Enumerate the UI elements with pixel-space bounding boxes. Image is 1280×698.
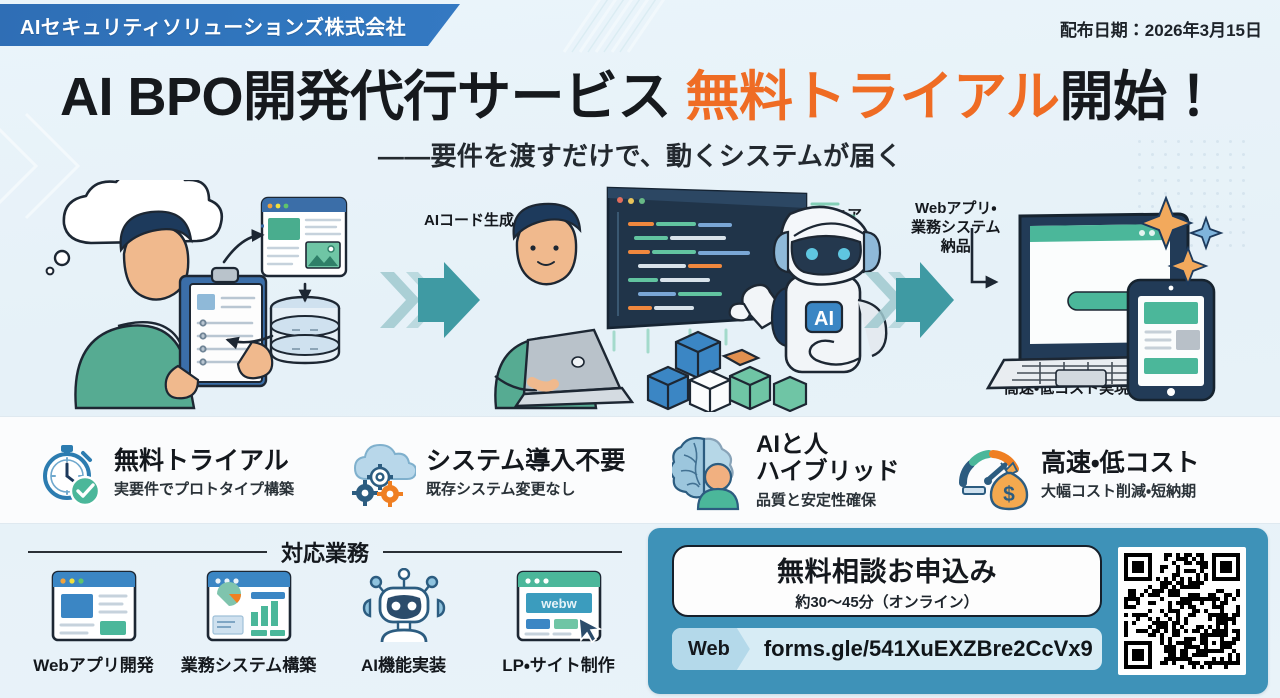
divider-left bbox=[28, 551, 267, 553]
hatch-decoration-icon bbox=[560, 0, 720, 56]
brain-person-icon bbox=[672, 431, 746, 511]
benefit-item-fast-cheap: $ 高速・低コスト 大幅コスト削減・短納期 bbox=[955, 439, 1200, 511]
big-arrow-1-icon bbox=[380, 262, 480, 338]
services-section: 対応業務 bbox=[0, 524, 640, 698]
cta-button-label: 無料相談お申込み bbox=[777, 550, 997, 589]
flyer-root: AIセキュリティソリューションズ株式会社 配布日期：2026年3月15日 AI … bbox=[0, 0, 1280, 698]
service-item-webapp[interactable]: Webアプリ開発 bbox=[16, 568, 171, 676]
tablet-icon bbox=[1128, 280, 1214, 400]
robot-head-icon bbox=[358, 568, 450, 644]
gauge-moneybag-icon: $ bbox=[955, 439, 1031, 511]
headline-block: AI BPO開発代行サービス 無料トライアル開始！ ——要件を渡すだけで、動くシ… bbox=[0, 68, 1280, 173]
headline-accent: 無料トライアル bbox=[686, 67, 1060, 127]
bottom-section: 対応業務 bbox=[0, 524, 1280, 698]
benefit-subtitle: 品質と安定性確保 bbox=[756, 489, 900, 510]
divider-right bbox=[383, 551, 622, 553]
benefit-text-free-trial: 無料トライアル 実要件でプロトタイプ構築 bbox=[114, 447, 294, 499]
stopwatch-check-icon bbox=[36, 439, 104, 507]
service-label: Webアプリ開発 bbox=[33, 651, 154, 676]
issue-date: 配布日期：2026年3月15日 bbox=[1060, 16, 1262, 41]
cloud-gears-icon bbox=[348, 439, 416, 507]
cta-button-sublabel: 約30〜45分（オンライン） bbox=[795, 591, 978, 612]
benefit-title: 無料トライアル bbox=[114, 447, 294, 475]
service-item-ai-feature[interactable]: AI機能実装 bbox=[326, 568, 481, 676]
browser-mock-icon bbox=[261, 198, 346, 276]
benefit-text-hybrid: AIと人 ハイブリッド 品質と安定性確保 bbox=[756, 432, 900, 510]
benefit-title: システム導入不要 bbox=[426, 447, 625, 475]
cta-url-bar[interactable]: Web forms.gle/541XuEXZBre2CcVx9 bbox=[672, 628, 1102, 670]
service-item-business-system[interactable]: 業務システム構築 bbox=[171, 568, 326, 676]
database-icon bbox=[271, 297, 339, 363]
benefit-subtitle: 実要件でプロトタイプ構築 bbox=[114, 478, 294, 499]
svg-text:$: $ bbox=[1003, 483, 1015, 506]
benefit-subtitle: 既存システム変更なし bbox=[426, 478, 625, 499]
benefit-item-no-install: システム導入不要 既存システム変更なし bbox=[348, 439, 625, 507]
benefit-text-no-install: システム導入不要 既存システム変更なし bbox=[426, 447, 625, 499]
benefits-strip: 無料トライアル 実要件でプロトタイプ構築 bbox=[0, 416, 1280, 524]
big-arrow-2-icon bbox=[864, 262, 954, 338]
dashboard-chart-icon bbox=[203, 568, 295, 644]
company-name: AIセキュリティソリューションズ株式会社 bbox=[20, 11, 406, 40]
services-heading-row: 対応業務 bbox=[28, 536, 622, 568]
benefit-item-hybrid: AIと人 ハイブリッド 品質と安定性確保 bbox=[672, 431, 900, 511]
service-label: 業務システム構築 bbox=[181, 651, 317, 676]
qr-code-image bbox=[1124, 553, 1240, 669]
robot-ai-badge: AI bbox=[814, 308, 834, 330]
headline-part1: AI BPO開発代行サービス bbox=[60, 67, 686, 127]
benefit-title-line1: AIと人 bbox=[756, 432, 900, 459]
services-list: Webアプリ開発 bbox=[16, 568, 636, 676]
services-heading: 対応業務 bbox=[281, 536, 369, 568]
benefit-item-free-trial: 無料トライアル 実要件でプロトタイプ構築 bbox=[36, 439, 294, 507]
process-illustration: AI bbox=[0, 180, 1280, 412]
landing-page-inner-text: webw bbox=[540, 596, 577, 611]
qr-code[interactable] bbox=[1118, 547, 1246, 675]
cta-url-text: forms.gle/541XuEXZBre2CcVx9 bbox=[750, 636, 1102, 662]
benefit-title: 高速・低コスト bbox=[1041, 449, 1200, 477]
free-consultation-button[interactable]: 無料相談お申込み 約30〜45分（オンライン） bbox=[672, 545, 1102, 617]
benefit-text-fast-cheap: 高速・低コスト 大幅コスト削減・短納期 bbox=[1041, 449, 1200, 501]
headline-part2: 開始！ bbox=[1060, 67, 1221, 127]
page-title: AI BPO開発代行サービス 無料トライアル開始！ bbox=[0, 68, 1280, 126]
delivery-elbow-arrow-icon bbox=[972, 228, 996, 282]
service-label: LP・サイト制作 bbox=[502, 651, 615, 676]
browser-window-icon bbox=[48, 568, 140, 644]
headline-subtitle: ——要件を渡すだけで、動くシステムが届く bbox=[0, 136, 1280, 173]
cta-panel: 無料相談お申込み 約30〜45分（オンライン） Web forms.gle/54… bbox=[648, 528, 1268, 694]
company-banner: AIセキュリティソリューションズ株式会社 bbox=[0, 4, 460, 46]
benefit-title-line2: ハイブリッド bbox=[756, 459, 900, 486]
landing-page-icon: webw bbox=[513, 568, 605, 644]
service-label: AI機能実装 bbox=[361, 651, 446, 676]
benefit-subtitle: 大幅コスト削減・短納期 bbox=[1041, 480, 1200, 501]
web-tag: Web bbox=[672, 628, 750, 670]
service-item-landing-page[interactable]: webw LP・サイト制作 bbox=[481, 568, 636, 676]
